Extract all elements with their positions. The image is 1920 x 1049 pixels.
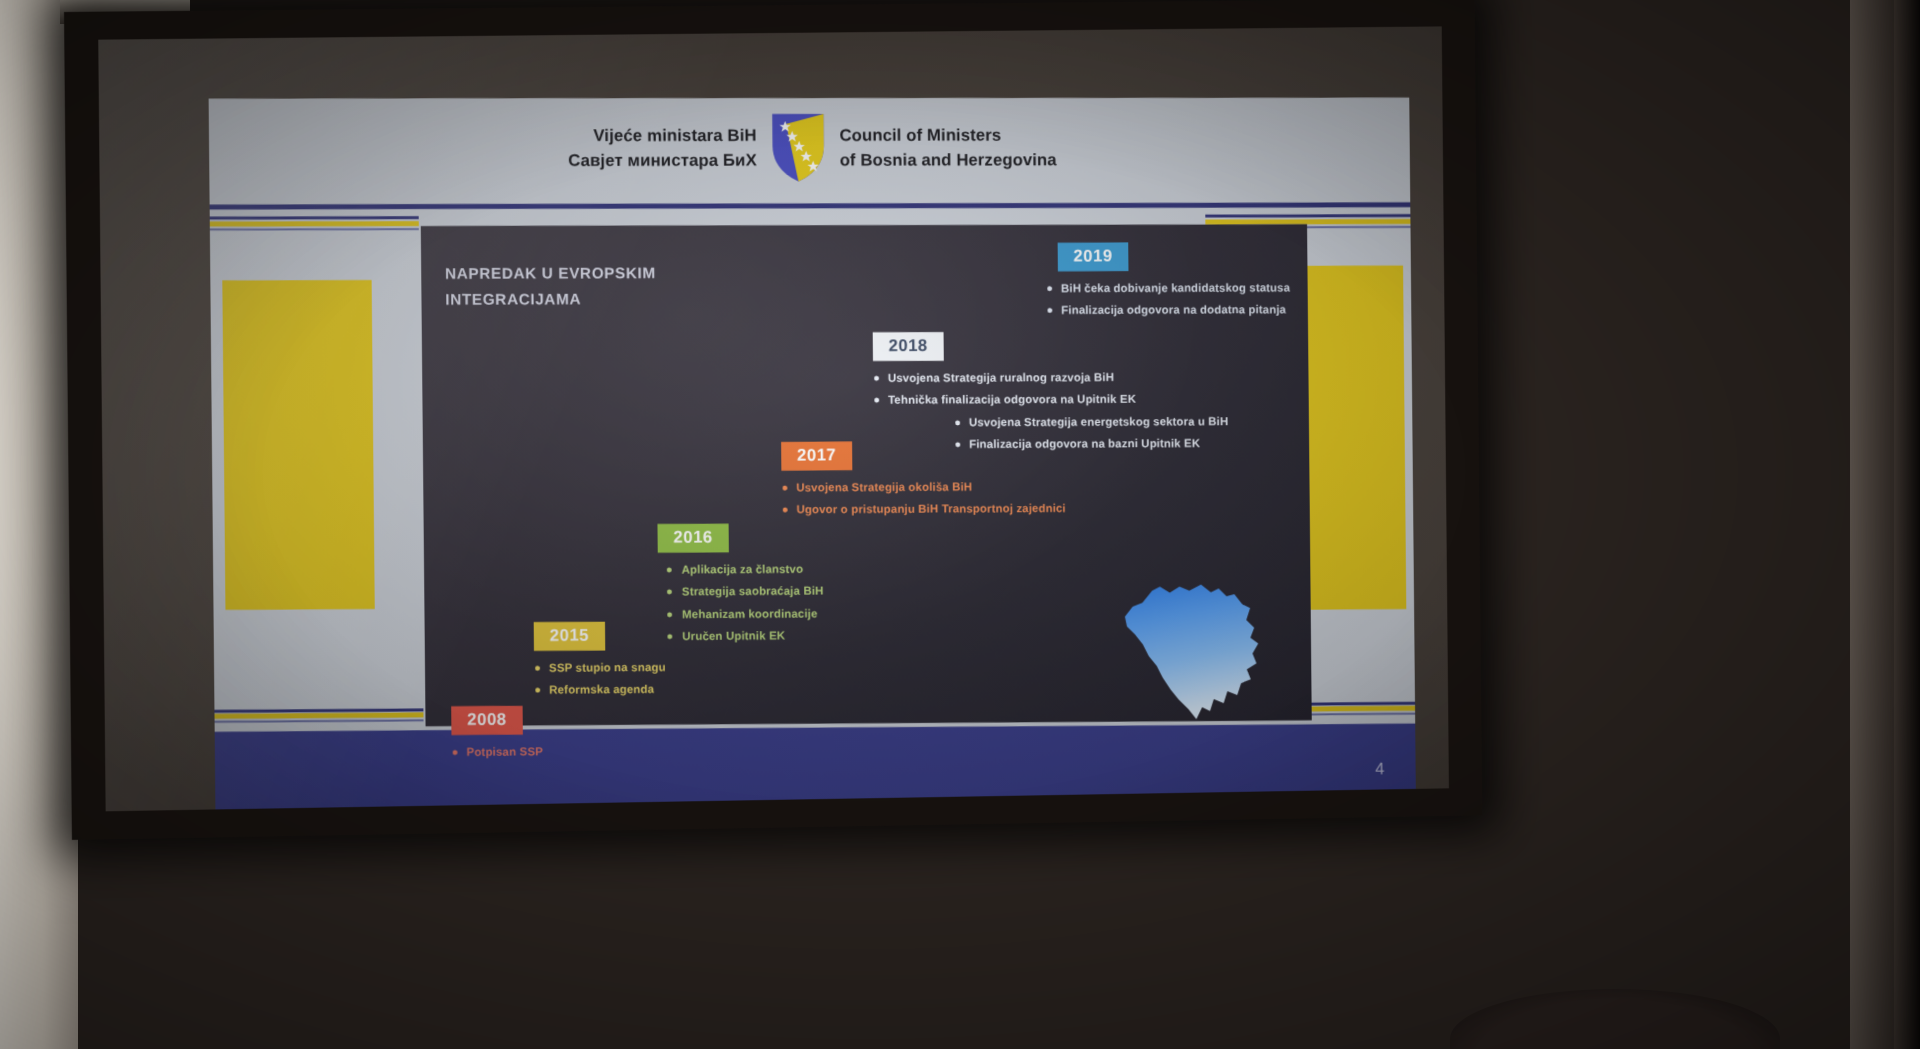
decorative-rules-top-left: [210, 216, 419, 232]
list-item: Finalizacija odgovora na dodatna pitanja: [1046, 300, 1290, 323]
slide-footer: [215, 724, 1416, 810]
decorative-block-left: [222, 280, 374, 610]
list-item: Strategija saobraćaja BiH: [658, 581, 824, 604]
list-item: Mehanizam koordinacije: [658, 603, 824, 626]
header-divider: [210, 202, 1411, 209]
year-badge-2016: 2016: [657, 524, 728, 553]
bullet-list-2015: SSP stupio na snagu Reformska agenda: [534, 657, 666, 703]
year-badge-2015: 2015: [534, 622, 605, 651]
bullet-list-2008: Potpisan SSP: [452, 741, 544, 764]
decorative-rules-bottom-left: [214, 708, 423, 723]
year-badge-2019: 2019: [1058, 242, 1129, 270]
page-title-line1: NAPREDAK U EVROPSKIM: [445, 261, 656, 287]
list-item: Ugovor o pristupanju BiH Transportnoj za…: [782, 498, 1066, 522]
list-item: Usvojena Strategija ruralnog razvoja BiH: [873, 366, 1228, 390]
list-item: Reformska agenda: [534, 679, 666, 702]
institution-name-english-line2: of Bosnia and Herzegovina: [840, 147, 1057, 173]
institution-name-english: Council of Ministers of Bosnia and Herze…: [839, 122, 1056, 173]
conference-room-background: Vijeće ministara BiH Савјет министара Би…: [0, 0, 1920, 1049]
timeline-group-2008: 2008 Potpisan SSP: [451, 706, 543, 765]
timeline-group-2018: 2018 Usvojena Strategija ruralnog razvoj…: [873, 331, 1229, 457]
list-item: Aplikacija za članstvo: [658, 558, 824, 581]
page-title: NAPREDAK U EVROPSKIM INTEGRACIJAMA: [445, 261, 656, 312]
page-number: 4: [1375, 759, 1384, 779]
list-item: Potpisan SSP: [452, 741, 544, 764]
bullet-list-2017: Usvojena Strategija okoliša BiH Ugovor o…: [781, 476, 1065, 522]
list-item: SSP stupio na snagu: [534, 657, 666, 680]
timeline-group-2015: 2015 SSP stupio na snagu Reformska agend…: [534, 621, 666, 702]
wall-right-edge: [1894, 0, 1920, 1049]
institution-name-local: Vijeće ministara BiH Савјет министара Би…: [568, 123, 757, 174]
bullet-list-2016: Aplikacija za članstvo Strategija saobra…: [658, 558, 824, 649]
page-title-line2: INTEGRACIJAMA: [445, 287, 656, 313]
coat-of-arms-icon: [770, 112, 826, 184]
timeline-group-2017: 2017 Usvojena Strategija okoliša BiH Ugo…: [781, 441, 1066, 522]
institution-name-bosnian: Vijeće ministara BiH: [568, 123, 757, 149]
projection-screen: Vijeće ministara BiH Савјет министара Би…: [98, 26, 1449, 811]
list-item: Tehnička finalizacija odgovora na Upitni…: [873, 389, 1228, 413]
bullet-list-2019: BiH čeka dobivanje kandidatskog statusa …: [1046, 277, 1290, 322]
slide-content-canvas: NAPREDAK U EVROPSKIM INTEGRACIJAMA 2019 …: [421, 224, 1312, 726]
institution-logo-block: Vijeće ministara BiH Савјет министара Би…: [568, 112, 1057, 184]
timeline-group-2016: 2016 Aplikacija za članstvo Strategija s…: [657, 523, 824, 649]
list-item: Usvojena Strategija energetskog sektora …: [954, 411, 1228, 434]
timeline-group-2019: 2019 BiH čeka dobivanje kandidatskog sta…: [1046, 242, 1290, 323]
bullet-list-2018: Usvojena Strategija ruralnog razvoja BiH…: [873, 366, 1228, 412]
projection-screen-frame: Vijeće ministara BiH Савјет министара Би…: [64, 0, 1482, 840]
institution-name-english-line1: Council of Ministers: [839, 122, 1056, 148]
slide-header: Vijeće ministara BiH Савјет министара Би…: [209, 98, 1411, 207]
map-bosnia-herzegovina-icon: [1117, 580, 1267, 727]
year-badge-2017: 2017: [781, 442, 852, 471]
list-item: BiH čeka dobivanje kandidatskog statusa: [1046, 277, 1290, 300]
list-item: Usvojena Strategija okoliša BiH: [781, 476, 1065, 500]
foreground-object: [1450, 989, 1780, 1049]
presentation-slide: Vijeće ministara BiH Савјет министара Би…: [209, 98, 1416, 810]
list-item: Uručen Upitnik EK: [658, 626, 824, 649]
year-badge-2008: 2008: [451, 706, 523, 735]
year-badge-2018: 2018: [873, 332, 944, 361]
institution-name-cyrillic: Савјет министара БиХ: [568, 148, 757, 174]
